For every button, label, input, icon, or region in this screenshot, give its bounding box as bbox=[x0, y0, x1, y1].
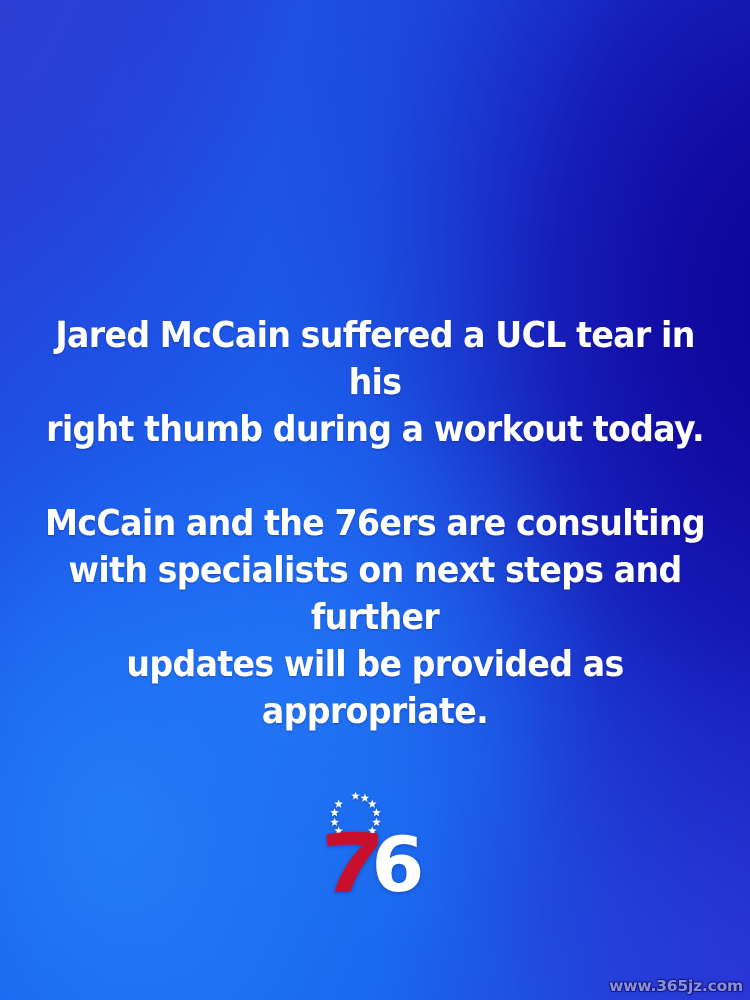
message-line: McCain and the 76ers are consulting bbox=[45, 503, 705, 544]
message-line: updates will be provided as appropriate. bbox=[126, 644, 623, 732]
paragraph-spacer bbox=[18, 453, 732, 500]
logo-star bbox=[334, 799, 343, 807]
logo-star bbox=[360, 794, 369, 802]
logo-star bbox=[368, 799, 377, 807]
logo-star bbox=[351, 791, 360, 799]
philadelphia-76ers-logo: 6 bbox=[320, 790, 430, 898]
message-paragraph-2: McCain and the 76ers are consulting with… bbox=[41, 500, 709, 735]
message-paragraph-1: Jared McCain suffered a UCL tear in his … bbox=[41, 312, 709, 453]
logo-star bbox=[330, 818, 339, 826]
logo-star bbox=[330, 808, 339, 816]
logo-numeral-seven bbox=[327, 832, 379, 892]
announcement-message: Jared McCain suffered a UCL tear in his … bbox=[0, 312, 750, 735]
message-line: Jared McCain suffered a UCL tear in his bbox=[55, 315, 694, 403]
message-line: right thumb during a workout today. bbox=[46, 409, 704, 450]
announcement-graphic: Jared McCain suffered a UCL tear in his … bbox=[0, 0, 750, 1000]
logo-star bbox=[372, 808, 381, 816]
logo-container: 6 bbox=[0, 790, 750, 898]
message-line: with specialists on next steps and furth… bbox=[68, 550, 681, 638]
logo-numeral-six: 6 bbox=[372, 820, 425, 898]
site-watermark: www.365jz.com bbox=[609, 977, 743, 995]
